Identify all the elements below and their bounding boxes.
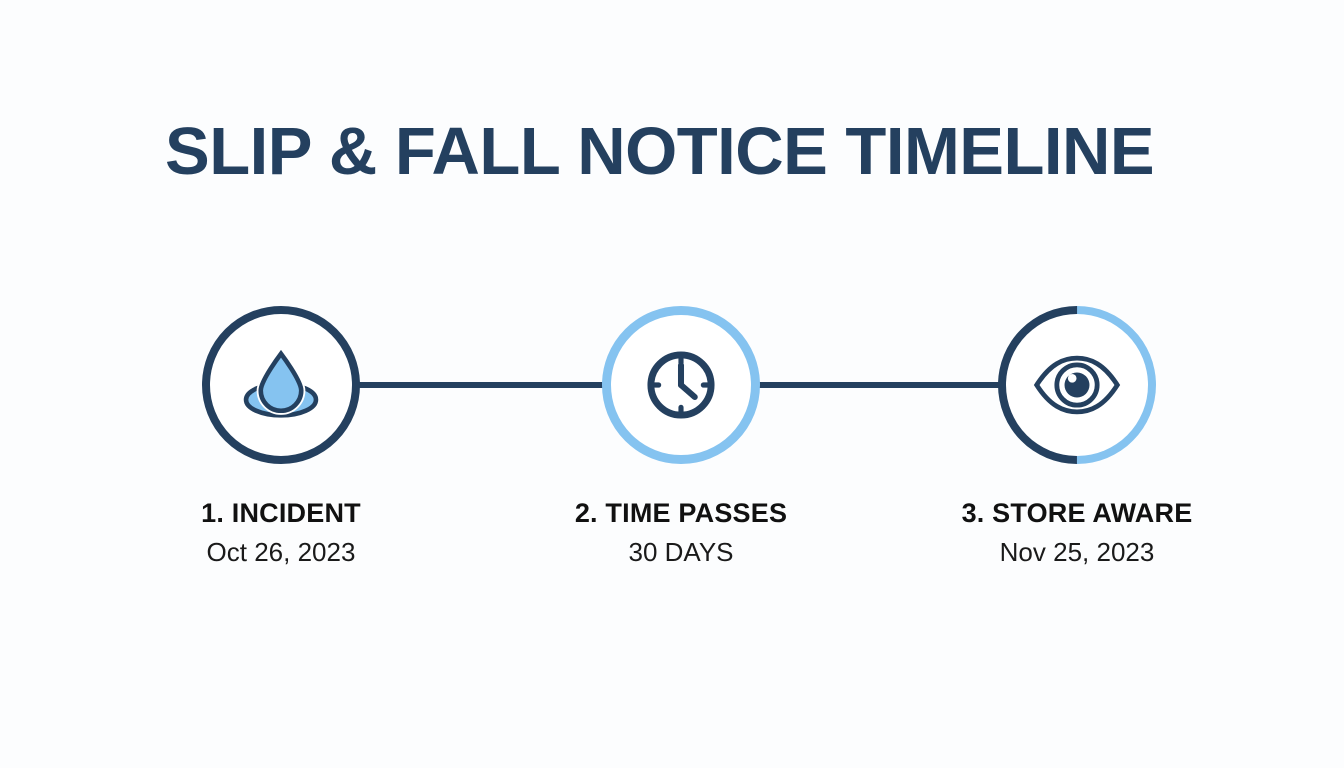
step-subtitle: Oct 26, 2023	[71, 538, 491, 568]
step-title: 1. INCIDENT	[71, 498, 491, 529]
timeline-caption-store-aware: 3. STORE AWARE Nov 25, 2023	[867, 498, 1287, 568]
timeline-diagram	[0, 0, 1344, 768]
timeline-caption-time-passes: 2. TIME PASSES 30 DAYS	[471, 498, 891, 568]
slide-canvas: SLIP & FALL NOTICE TIMELINE	[0, 0, 1344, 768]
step-title: 3. STORE AWARE	[867, 498, 1287, 529]
timeline-connector-1-2	[352, 382, 614, 388]
step-title: 2. TIME PASSES	[471, 498, 891, 529]
timeline-node-time-passes[interactable]	[602, 306, 760, 464]
eye-icon	[998, 306, 1156, 464]
timeline-connector-2-3	[748, 382, 1010, 388]
step-subtitle: 30 DAYS	[471, 538, 891, 568]
timeline-node-store-aware[interactable]	[998, 306, 1156, 464]
timeline-node-incident[interactable]	[202, 306, 360, 464]
water-droplet-spill-icon	[202, 306, 360, 464]
timeline-caption-incident: 1. INCIDENT Oct 26, 2023	[71, 498, 491, 568]
clock-icon	[602, 306, 760, 464]
step-subtitle: Nov 25, 2023	[867, 538, 1287, 568]
